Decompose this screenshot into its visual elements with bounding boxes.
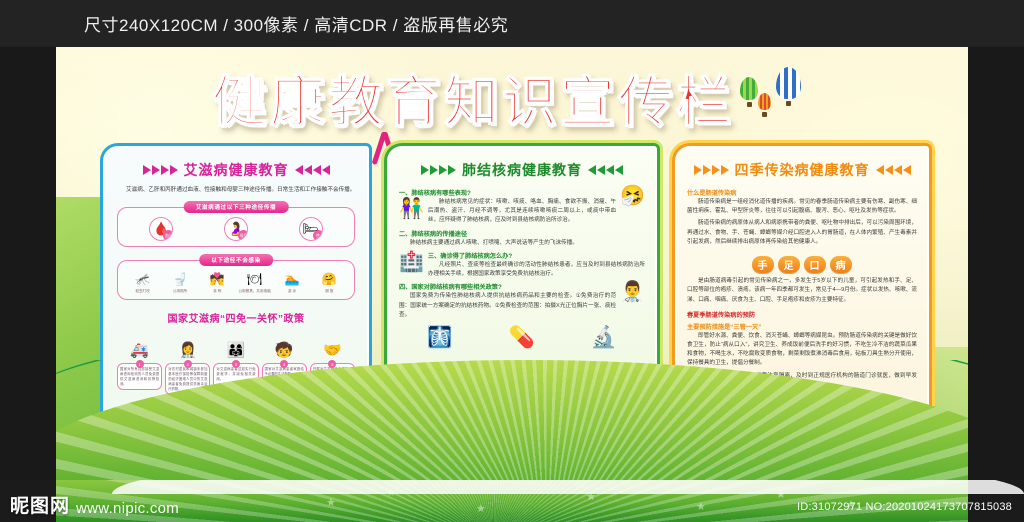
spec-bar: 尺寸240X120CM / 300像素 / 高清CDR / 盗版再售必究 (0, 0, 1024, 47)
mosquito-icon: 🦟 (133, 270, 152, 287)
arrows-left-icon (588, 165, 623, 175)
tb-section-heading: 一、肺结核病有哪些表现? (399, 188, 645, 197)
coughing-man-icon: 🤧 (620, 186, 645, 206)
hfmd-badge-char: 足 (778, 256, 800, 273)
arrows-left-icon (876, 165, 911, 175)
tb-section-text: 凡经照片、查痰等检查最终确诊的活动性肺结核患者，应当及时到县结核病防治所办理相关… (399, 261, 645, 279)
panel-aids-header: 艾滋病健康教育 (115, 160, 357, 180)
policy-illustration: 🤝 (310, 328, 355, 358)
swimming-icon: 🏊 (282, 270, 301, 287)
hot-air-balloon-green-icon (740, 77, 758, 107)
aids-transmission-icons: 🩸血液 🤰母婴 🛏性 (124, 217, 348, 241)
arrows-right-icon (694, 165, 729, 175)
arrows-right-icon (143, 165, 178, 175)
icon-label: 蚊虫叮咬 (125, 289, 161, 294)
tb-section-heading: 二、肺结核病的传播途径 (399, 229, 645, 238)
panel-season-title: 四季传染病健康教育 (735, 160, 870, 180)
hfmd-badge-char: 手 (752, 256, 774, 273)
tb-section-text: 国家免费为传染性肺结核病人提供抗结核病药品和主要的检查。①免费治疗的范围：国家统… (399, 292, 645, 320)
kiss-icon: 💏 (208, 270, 227, 287)
poster-title-row: 健康教育知识宣传栏 (56, 61, 968, 133)
icon-label: 游 泳 (274, 289, 310, 294)
season-section-heading: 什么是肠道传染病 (687, 188, 917, 197)
couple-bed-icon: 🛏性 (299, 217, 323, 241)
panel-season-header: 四季传染病健康教育 (687, 160, 917, 180)
arrows-right-icon (421, 165, 456, 175)
doctor-pointing-icon: 👨‍⚕️ (620, 282, 645, 302)
panel-tb-header: 肺结核病健康教育 (399, 160, 645, 180)
policy-illustration: 👨‍👩‍👧 (213, 328, 258, 358)
talking-couple-icon: 👫 (399, 199, 424, 219)
poster-canvas: 健康教育知识宣传栏 艾滋病健康教育 艾滋病、乙肝和丙肝通过血液、性接触和母婴三种… (56, 47, 968, 480)
wave-outline (56, 360, 968, 440)
hot-air-balloon-orange-icon (758, 93, 771, 115)
tb-vignette-row: 🩻 💊 🔬 (399, 327, 645, 348)
aids-transmission-box: 艾滋病通过以下三种途径传播 🩸血液 🤰母婴 🛏性 (117, 207, 355, 247)
list-item: 🦟 蚊虫叮咬 (125, 270, 161, 294)
shared-utensils-icon: 🍽 (245, 270, 264, 287)
clinic-entrance-icon: 🏥 (399, 252, 424, 272)
list-item: 🤰母婴 (199, 217, 274, 241)
icon-label: 公用厕所 (162, 289, 198, 294)
toilet-icon: 🚽 (170, 270, 189, 287)
tag-label: 性 (313, 230, 323, 241)
aids-safe-box: 以下途径不会感染 🦟 蚊虫叮咬 🚽 公用厕所 💏 亲 吻 (117, 260, 355, 300)
spec-text: 尺寸240X120CM / 300像素 / 高清CDR / 盗版再售必究 (84, 11, 508, 36)
panel-tb-body: 🤧 一、肺结核病有哪些表现? 👫 肺结核病常见的症状：咳嗽、咳痰、咯血、胸痛、食… (399, 186, 645, 323)
pharmacy-counter-icon: 💊 (509, 327, 535, 348)
hot-air-balloon-blue-icon (776, 67, 801, 109)
icon-label: 亲 吻 (199, 289, 235, 294)
list-item: 🍽 公用餐具、共用电脑 (237, 270, 273, 294)
brand: 昵图网 www.nipic.com (10, 491, 179, 518)
aids-safe-icons: 🦟 蚊虫叮咬 🚽 公用厕所 💏 亲 吻 🍽 公用餐具、共用电脑 (124, 270, 348, 294)
season-paragraph: 肠道传染病是一组经消化道传播的疾病。常见的春季肠道传染病主要有伤寒、副伤寒、细菌… (687, 198, 917, 216)
prevention-subheading: 主要预防措施是“三管一灭” (687, 322, 917, 331)
hfmd-badge-row: 手 足 口 病 (687, 256, 917, 273)
tag-label: 血液 (163, 230, 173, 241)
tag-label: 母婴 (238, 230, 248, 241)
bottom-wave (56, 360, 968, 480)
icon-label: 拥 抱 (311, 289, 347, 294)
policy-illustration: 🧒 (262, 328, 307, 358)
footer-watermark-bar: ★ ★ ★ ★ ★ ★ ★ 昵图网 www.nipic.com ID:31072… (0, 480, 1024, 522)
list-item: 🩸血液 (124, 217, 199, 241)
policy-illustration: 🚑 (117, 328, 162, 358)
aids-policy-title: 国家艾滋病“四免一关怀”政策 (115, 310, 357, 325)
list-item: 🏊 游 泳 (274, 270, 310, 294)
lab-technician-icon: 🔬 (591, 327, 617, 348)
doctor-xray-chart-icon: 🩻 (427, 327, 453, 348)
panel-tb-title: 肺结核病健康教育 (462, 160, 582, 180)
season-paragraph: 肠道传染病的病原体从病人和病原携带者的粪便、呕吐物中排出后，可以污染周围环境，再… (687, 219, 917, 247)
asset-id-number: ID:31072971 NO:20201024173707815038 (797, 501, 1012, 513)
prevention-heading: 春夏季肠道传染病的预防 (687, 310, 917, 319)
tb-section-heading: 四、国家对肺结核病有哪些相关政策? (399, 282, 645, 291)
tb-section-heading: 三、确诊得了肺结核病怎么办? (399, 251, 645, 260)
pregnant-mother-icon: 🤰母婴 (224, 217, 248, 241)
arrows-left-icon (295, 165, 330, 175)
hot-air-balloon-group (738, 67, 812, 127)
list-item: 💏 亲 吻 (199, 270, 235, 294)
panel-aids-intro: 艾滋病、乙肝和丙肝通过血液、性接触和母婴三种途径传播。日常生活和工作接触不会传播… (115, 186, 357, 195)
policy-illustration: 👩‍⚕️ (165, 328, 210, 358)
hfmd-badge-char: 口 (804, 256, 826, 273)
icon-label: 公用餐具、共用电脑 (237, 289, 273, 294)
poster-main-title: 健康教育知识宣传栏 (212, 57, 734, 137)
blood-transfusion-icon: 🩸血液 (149, 217, 173, 241)
aids-transmission-chip: 艾滋病通过以下三种途径传播 (184, 201, 289, 213)
hug-icon: 🤗 (320, 270, 339, 287)
tb-section-text: 肺结核病主要通过病人咳嗽、打喷嚏、大声说话等产生的飞沫传播。 (399, 239, 645, 248)
tb-section-text: 肺结核病常见的症状：咳嗽、咳痰、咯血、胸痛、食欲不振、消瘦、午后潮热、盗汗、月经… (399, 198, 645, 226)
footer-arc (112, 480, 1024, 494)
panel-aids-title: 艾滋病健康教育 (184, 160, 289, 180)
list-item: 🤗 拥 抱 (311, 270, 347, 294)
hfmd-text: 是由肠道病毒引起的常见传染病之一，多发生于5岁以下的儿童，可引起发热和手、足、口… (687, 277, 917, 305)
hfmd-badge-char: 病 (830, 256, 852, 273)
brand-name: 昵图网 (10, 491, 70, 518)
list-item: 🚽 公用厕所 (162, 270, 198, 294)
list-item: 🛏性 (273, 217, 348, 241)
aids-safe-chip: 以下途径不会感染 (199, 254, 273, 266)
brand-url[interactable]: www.nipic.com (76, 500, 179, 518)
